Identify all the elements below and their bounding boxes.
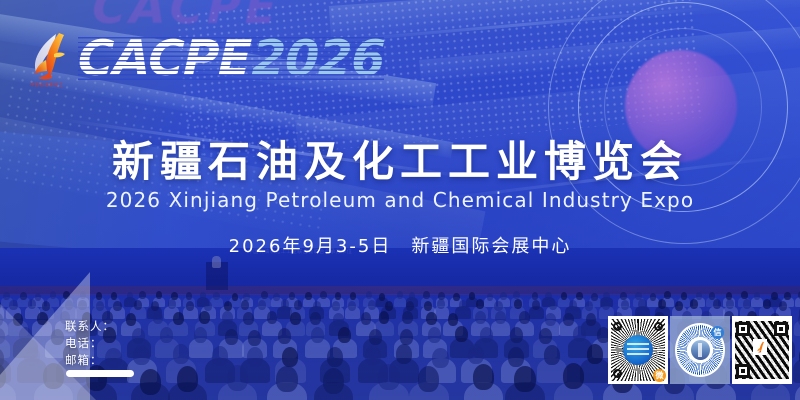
logo-subtext: 中国石油和化工: [30, 82, 64, 88]
watermark-wordmark: CACPE: [86, 0, 286, 34]
logo-wordmark-group: CACPE 2026: [78, 34, 384, 83]
qr-center-logo: [623, 335, 653, 365]
wechat-burst-qr[interactable]: 微: [608, 316, 668, 384]
logo-wordmark: CACPE: [77, 34, 251, 83]
date-and-venue: 2026年9月3-5日 新疆国际会展中心: [0, 232, 800, 258]
contact-block: 联系人： 电话： 邮箱：: [65, 318, 115, 369]
standard-qr[interactable]: [732, 316, 792, 384]
qr-eye-icon: [654, 322, 663, 331]
wechat-badge-icon: 微: [653, 369, 666, 382]
contact-person-label: 联系人：: [65, 318, 115, 335]
phoenix-logo-icon: 中国石油和化工: [26, 30, 72, 86]
contact-underline-bar: [66, 370, 134, 377]
expo-title-chinese: 新疆石油及化工工业博览会: [0, 128, 800, 189]
qr-finder-icon: [736, 322, 750, 336]
expo-banner: CACPE 中国石油和化工工业联合会联合会承办单位: [0, 0, 800, 400]
qr-finder-icon: [774, 322, 788, 336]
logo-year: 2026: [251, 34, 385, 83]
wechat-badge-icon: 信: [711, 326, 724, 339]
qr-eye-icon: [613, 369, 622, 378]
circular-qr[interactable]: 信: [670, 316, 730, 384]
qr-center-phoenix-icon: [753, 339, 767, 355]
expo-title-english: 2026 Xinjiang Petroleum and Chemical Ind…: [0, 188, 800, 212]
qr-finder-icon: [736, 364, 750, 378]
qr-center-photo: [691, 340, 710, 360]
qr-eye-icon: [613, 322, 622, 331]
contact-email-label: 邮箱：: [65, 352, 115, 369]
contact-phone-label: 电话：: [65, 335, 115, 352]
event-logo[interactable]: 中国石油和化工 CACPE 2026: [26, 30, 384, 86]
qr-code-row: 微 信: [608, 316, 792, 384]
